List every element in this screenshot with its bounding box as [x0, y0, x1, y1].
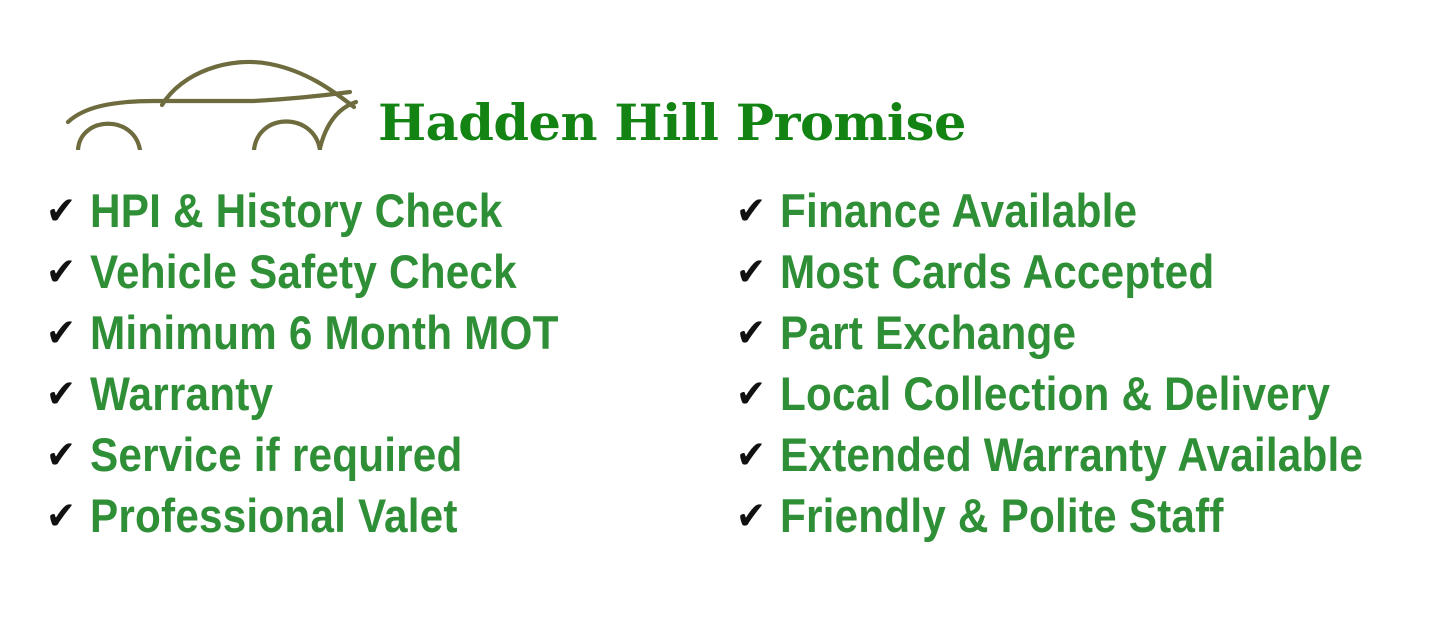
list-item-label: Minimum 6 Month MOT [90, 308, 559, 358]
check-icon: ✔ [46, 497, 92, 536]
list-item-label: Finance Available [780, 186, 1137, 236]
list-item: ✔ Friendly & Polite Staff [736, 491, 1428, 552]
page-title: Hadden Hill Promise [378, 96, 966, 150]
promise-list-left: ✔ HPI & History Check ✔ Vehicle Safety C… [46, 186, 611, 552]
list-item: ✔ Extended Warranty Available [736, 430, 1428, 491]
check-icon: ✔ [736, 253, 782, 292]
check-icon: ✔ [46, 375, 92, 414]
list-item: ✔ Service if required [46, 430, 611, 491]
check-icon: ✔ [46, 436, 92, 475]
list-item-label: Professional Valet [90, 491, 458, 541]
check-icon: ✔ [46, 314, 92, 353]
list-item: ✔ Finance Available [736, 186, 1428, 247]
check-icon: ✔ [736, 436, 782, 475]
list-item: ✔ Professional Valet [46, 491, 611, 552]
list-item-label: Warranty [90, 369, 273, 419]
list-item: ✔ Most Cards Accepted [736, 247, 1428, 308]
list-item: ✔ HPI & History Check [46, 186, 611, 247]
check-icon: ✔ [46, 192, 92, 231]
list-item-label: Extended Warranty Available [780, 430, 1363, 480]
promise-left-column: ✔ HPI & History Check ✔ Vehicle Safety C… [46, 186, 611, 552]
list-item-label: Friendly & Polite Staff [780, 491, 1224, 541]
list-item-label: Vehicle Safety Check [90, 247, 517, 297]
hadden-hill-promise-banner: Hadden Hill Promise ✔ HPI & History Chec… [0, 0, 1440, 638]
list-item-label: Most Cards Accepted [780, 247, 1214, 297]
promise-right-column: ✔ Finance Available ✔ Most Cards Accepte… [736, 186, 1428, 552]
list-item: ✔ Local Collection & Delivery [736, 369, 1428, 430]
list-item-label: Service if required [90, 430, 463, 480]
list-item-label: HPI & History Check [90, 186, 502, 236]
car-outline-icon [58, 52, 368, 150]
list-item-label: Local Collection & Delivery [780, 369, 1330, 419]
banner-header: Hadden Hill Promise [0, 0, 1440, 175]
list-item: ✔ Warranty [46, 369, 611, 430]
check-icon: ✔ [736, 497, 782, 536]
check-icon: ✔ [736, 314, 782, 353]
list-item: ✔ Part Exchange [736, 308, 1428, 369]
list-item-label: Part Exchange [780, 308, 1076, 358]
promise-columns: ✔ HPI & History Check ✔ Vehicle Safety C… [0, 186, 1440, 558]
promise-list-right: ✔ Finance Available ✔ Most Cards Accepte… [736, 186, 1428, 552]
list-item: ✔ Vehicle Safety Check [46, 247, 611, 308]
check-icon: ✔ [46, 253, 92, 292]
list-item: ✔ Minimum 6 Month MOT [46, 308, 611, 369]
check-icon: ✔ [736, 192, 782, 231]
check-icon: ✔ [736, 375, 782, 414]
